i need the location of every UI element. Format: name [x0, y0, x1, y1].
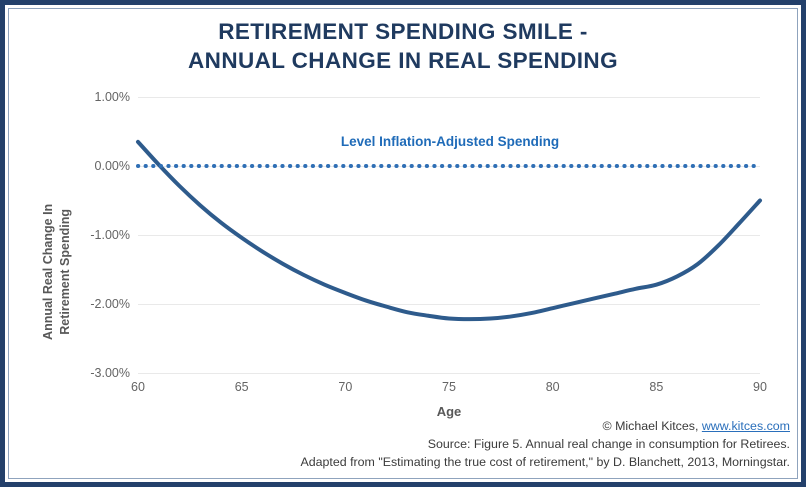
x-tick-label: 85: [649, 380, 663, 394]
gridline-y: [138, 97, 760, 98]
kitces-link[interactable]: www.kitces.com: [702, 419, 790, 433]
gridline-y: [138, 373, 760, 374]
gridline-y: [138, 166, 760, 167]
gridline-y: [138, 235, 760, 236]
chart-title-line-1: RETIREMENT SPENDING SMILE -: [60, 18, 746, 47]
chart-title-line-2: ANNUAL CHANGE IN REAL SPENDING: [60, 47, 746, 76]
adapted-line: Adapted from "Estimating the true cost o…: [14, 454, 790, 472]
x-tick-label: 90: [753, 380, 767, 394]
level-spending-annotation: Level Inflation-Adjusted Spending: [200, 134, 700, 149]
y-axis-ticks: 1.00%0.00%-1.00%-2.00%-3.00%: [55, 97, 130, 373]
copyright-line: © Michael Kitces, www.kitces.com: [14, 418, 790, 436]
x-tick-label: 75: [442, 380, 456, 394]
x-tick-label: 65: [235, 380, 249, 394]
figure-footer: © Michael Kitces, www.kitces.com Source:…: [14, 418, 790, 472]
x-axis-ticks: 60657075808590: [138, 380, 760, 398]
x-tick-label: 60: [131, 380, 145, 394]
y-tick-label: -3.00%: [58, 366, 130, 380]
y-tick-label: 0.00%: [58, 159, 130, 173]
source-line: Source: Figure 5. Annual real change in …: [14, 436, 790, 454]
page-title: RETIREMENT SPENDING SMILE - ANNUAL CHANG…: [60, 18, 746, 76]
x-tick-label: 70: [338, 380, 352, 394]
chart-figure: RETIREMENT SPENDING SMILE - ANNUAL CHANG…: [0, 0, 806, 487]
x-axis-title: Age: [138, 404, 760, 419]
x-tick-label: 80: [546, 380, 560, 394]
gridline-y: [138, 304, 760, 305]
y-tick-label: 1.00%: [58, 90, 130, 104]
copyright-text: © Michael Kitces,: [603, 419, 702, 433]
y-tick-label: -1.00%: [58, 228, 130, 242]
y-tick-label: -2.00%: [58, 297, 130, 311]
